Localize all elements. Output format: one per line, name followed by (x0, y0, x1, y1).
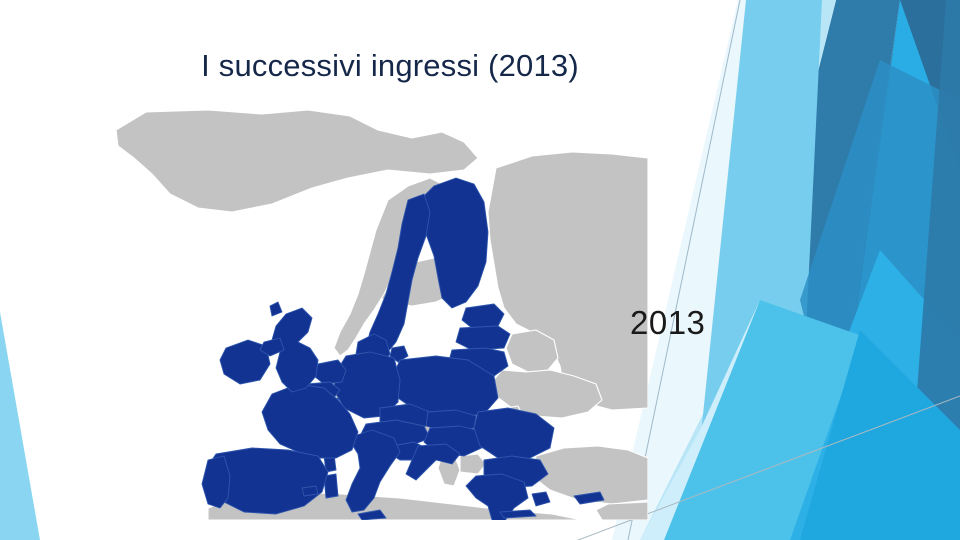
country-syria (596, 502, 648, 520)
country-estonia (462, 304, 504, 328)
facet-shape-rightmost-dark (906, 0, 960, 540)
page-title: I successivi ingressi (2013) (60, 46, 720, 86)
map-year-label: 2013 (630, 304, 705, 342)
facet-shape-steel (700, 0, 900, 540)
facet-shape-deep-right (820, 0, 960, 540)
facet-shape-bright (826, 0, 960, 540)
facet-shape-azure-lower (790, 200, 960, 540)
europe-map: 2013 (112, 108, 648, 520)
slide-canvas: I successivi ingressi (2013) (0, 0, 960, 540)
country-netherlands (314, 360, 346, 384)
island-balearics (302, 486, 318, 496)
facet-shape-bright-mid (770, 250, 960, 540)
europe-map-svg (112, 108, 648, 520)
facet-shape-midblue (800, 60, 960, 540)
country-latvia (456, 326, 510, 350)
country-north-macedonia (460, 454, 486, 474)
island-hebrides (270, 302, 282, 316)
country-portugal (202, 456, 230, 508)
facet-shape-bottom-bright (800, 330, 960, 540)
corner-triangle-left (0, 312, 40, 540)
country-greece-islands (532, 492, 550, 506)
